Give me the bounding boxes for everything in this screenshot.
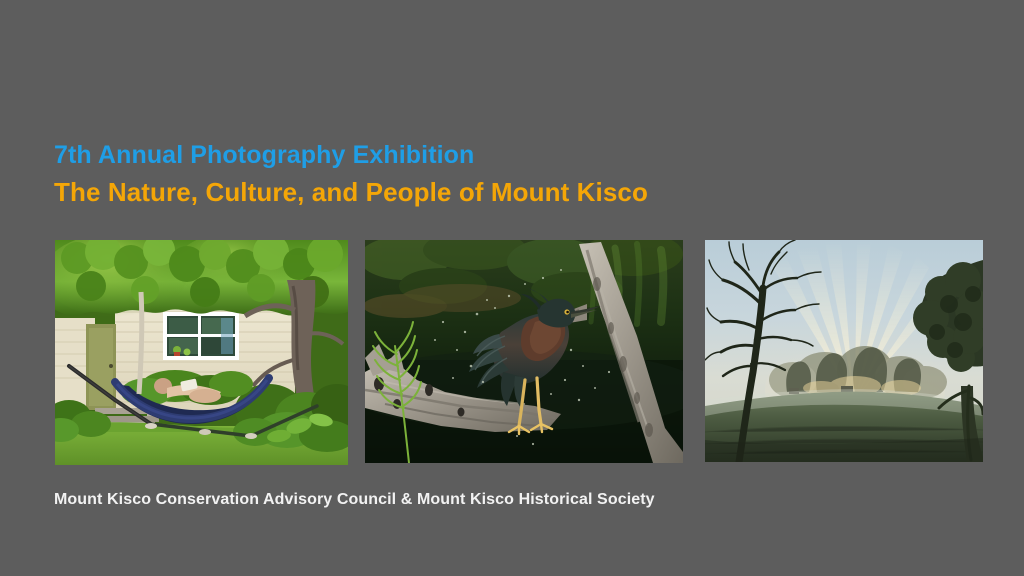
organizer-credit: Mount Kisco Conservation Advisory Counci… — [54, 491, 655, 509]
title-block: 7th Annual Photography Exhibition The Na… — [54, 140, 954, 209]
photo-sunrise[interactable] — [705, 240, 983, 462]
exhibition-title-line-2: The Nature, Culture, and People of Mount… — [54, 175, 954, 209]
photo-hammock-artwork — [55, 240, 348, 465]
photo-strip — [0, 240, 1024, 466]
presentation-slide: 7th Annual Photography Exhibition The Na… — [0, 0, 1024, 576]
exhibition-title-line-1: 7th Annual Photography Exhibition — [54, 140, 954, 170]
photo-heron-artwork — [365, 240, 683, 463]
photo-heron[interactable] — [365, 240, 683, 463]
photo-hammock[interactable] — [55, 240, 348, 465]
photo-sunrise-artwork — [705, 240, 983, 462]
